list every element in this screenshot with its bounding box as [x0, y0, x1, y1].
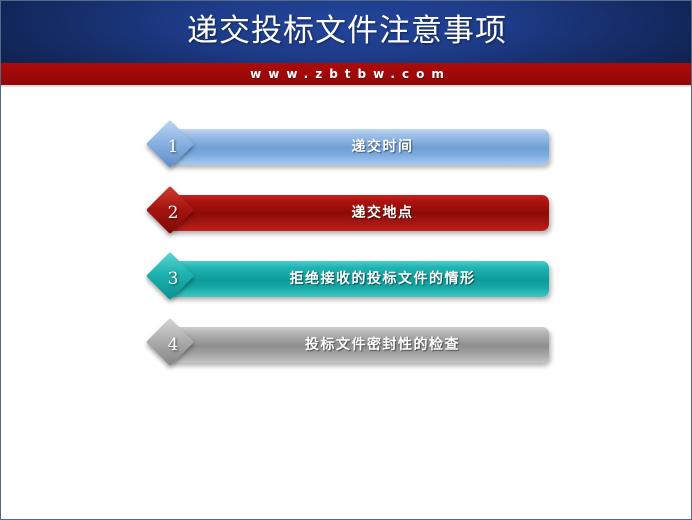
- agenda-label-4: 投标文件密封性的检查: [224, 327, 541, 363]
- agenda-item-2[interactable]: 递交地点 2: [149, 195, 549, 231]
- agenda-number-3: 3: [149, 255, 197, 303]
- agenda-label-2: 递交地点: [224, 195, 541, 231]
- agenda-item-4[interactable]: 投标文件密封性的检查 4: [149, 327, 549, 363]
- agenda-number-1: 1: [149, 123, 197, 171]
- agenda-number-badge-3: 3: [149, 255, 197, 303]
- agenda-item-1[interactable]: 递交时间 1: [149, 129, 549, 165]
- agenda-number-badge-4: 4: [149, 321, 197, 369]
- agenda-number-2: 2: [149, 189, 197, 237]
- agenda-number-4: 4: [149, 321, 197, 369]
- agenda-bar-4[interactable]: 投标文件密封性的检查: [169, 327, 549, 363]
- agenda-bar-2[interactable]: 递交地点: [169, 195, 549, 231]
- agenda-number-badge-1: 1: [149, 123, 197, 171]
- agenda-label-1: 递交时间: [224, 129, 541, 165]
- agenda-number-badge-2: 2: [149, 189, 197, 237]
- agenda-bar-1[interactable]: 递交时间: [169, 129, 549, 165]
- agenda-item-3[interactable]: 拒绝接收的投标文件的情形 3: [149, 261, 549, 297]
- agenda-bar-3[interactable]: 拒绝接收的投标文件的情形: [169, 261, 549, 297]
- agenda-label-3: 拒绝接收的投标文件的情形: [224, 261, 541, 297]
- presentation-slide: 递交投标文件注意事项 www.zbtbw.com 递交时间 1 递交地点 2: [0, 0, 692, 520]
- agenda-list: 递交时间 1 递交地点 2 拒绝接收的投标文件的情形 3: [1, 1, 692, 520]
